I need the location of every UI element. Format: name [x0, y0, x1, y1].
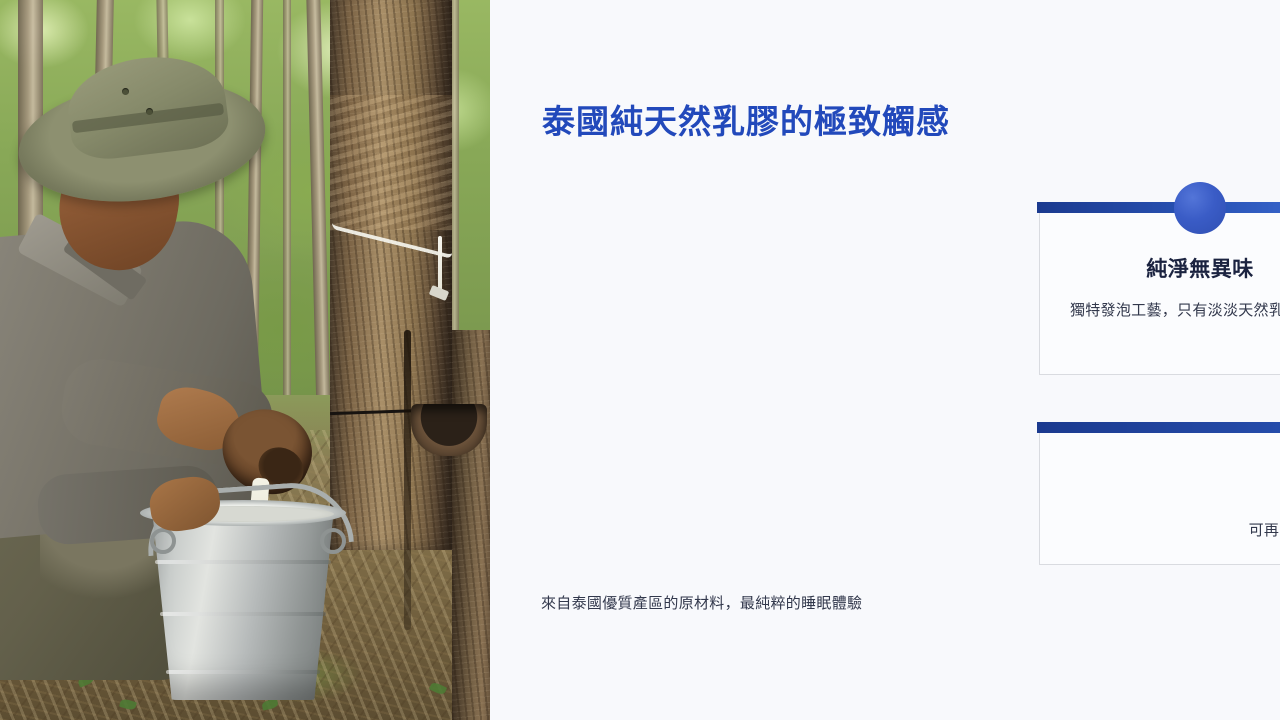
bark-texture [330, 0, 452, 550]
bucket-handle-ear [150, 528, 176, 554]
bucket-handle-ear [320, 528, 346, 554]
background-tree-trunk [283, 0, 291, 415]
hat-eyelet [122, 88, 129, 95]
tapped-rubber-tree [452, 330, 490, 720]
feature-card-body: 可再生資源，對健康與地球環境負責 [1069, 516, 1280, 546]
footer-note: 來自泰國優質產區的原材料，最純粹的睡眠體驗 [541, 592, 862, 613]
feature-card[interactable] [1039, 208, 1280, 375]
feature-card-title: 純淨無異味 [1039, 253, 1280, 283]
bucket-band [160, 612, 326, 616]
feature-card-title: 天然環保 [1039, 473, 1280, 503]
slide-canvas: 泰國純天然乳膠的極致觸感 純淨無異味 獨特發泡工藝，只有淡淡天然乳膠香氣 親膚柔… [0, 0, 1280, 720]
rubber-tapper-photo [0, 0, 490, 720]
feature-card-body: 獨特發泡工藝，只有淡淡天然乳膠香氣 [1056, 296, 1280, 326]
card-accent-bar [1037, 422, 1280, 433]
hat-eyelet [146, 108, 153, 115]
content-panel: 泰國純天然乳膠的極致觸感 純淨無異味 獨特發泡工藝，只有淡淡天然乳膠香氣 親膚柔… [490, 0, 1280, 720]
latex-drip [438, 236, 442, 292]
dried-latex-streak [404, 330, 411, 630]
bark-texture [452, 330, 490, 720]
bucket-band [166, 670, 320, 674]
tapped-rubber-tree [330, 0, 452, 550]
card-accent-bar [1037, 202, 1280, 213]
page-title: 泰國純天然乳膠的極致觸感 [542, 95, 950, 143]
card-accent-dot [1174, 182, 1226, 234]
bucket-band [155, 560, 331, 564]
